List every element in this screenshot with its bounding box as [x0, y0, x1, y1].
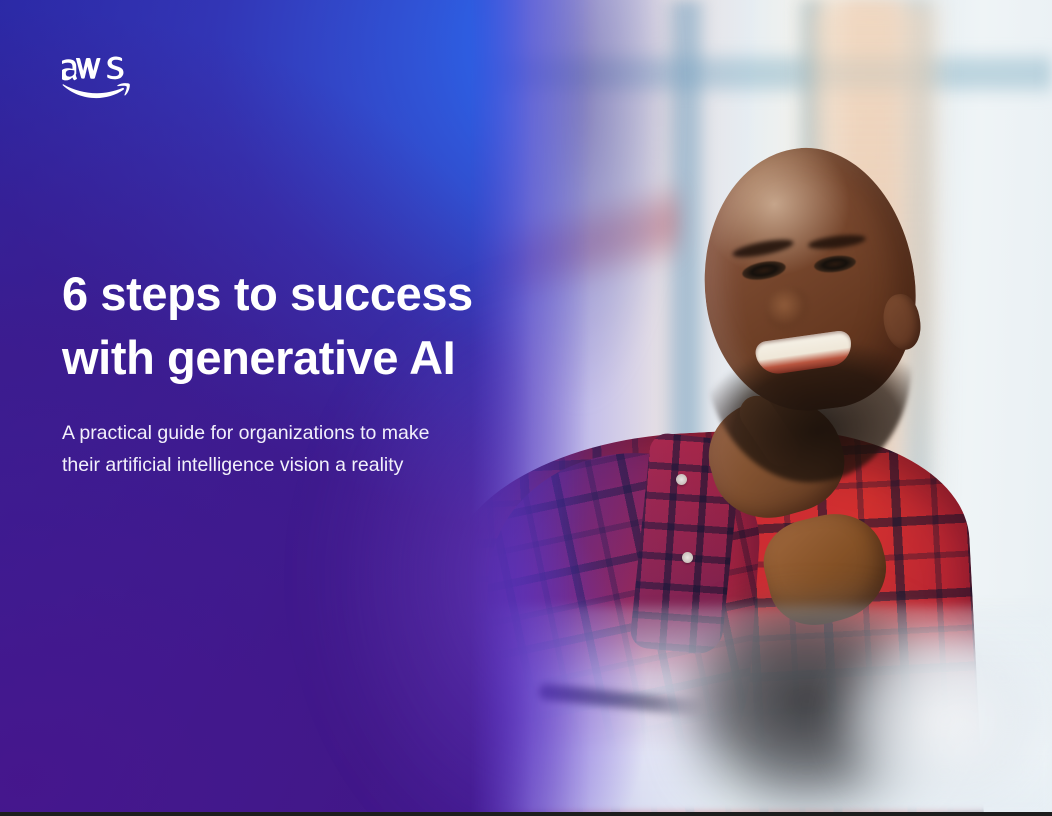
subtitle-line-2: their artificial intelligence vision a r… [62, 450, 532, 482]
photo-shirt-button [682, 552, 693, 563]
page-title: 6 steps to success with generative AI [62, 262, 582, 390]
headline-line-2: with generative AI [62, 326, 582, 390]
hero-portrait [470, 0, 1052, 816]
ebook-cover: 6 steps to success with generative AI A … [0, 0, 1052, 816]
subtitle-line-1: A practical guide for organizations to m… [62, 418, 532, 450]
page-subtitle: A practical guide for organizations to m… [62, 418, 532, 481]
aws-logo [62, 55, 132, 103]
photo-shirt-button [676, 474, 687, 485]
photo-foreground-blur-highlight [830, 628, 1052, 816]
headline-line-1: 6 steps to success [62, 262, 582, 326]
